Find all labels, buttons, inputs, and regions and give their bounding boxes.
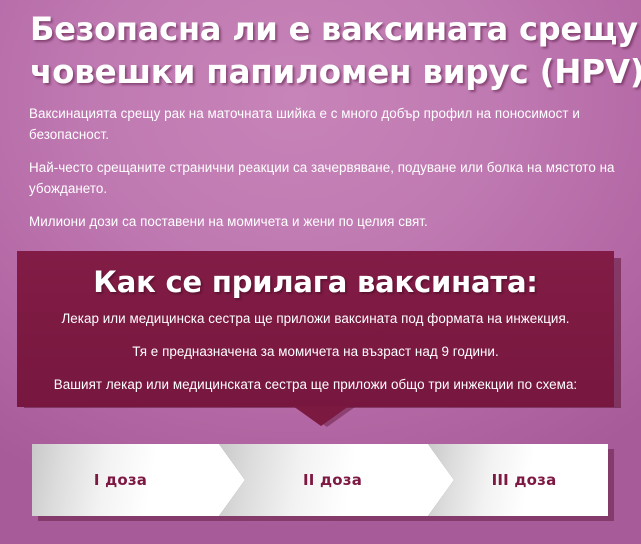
title-line-2: човешки папиломен вирус (HPV).: [30, 51, 630, 94]
panel-line-2: Тя е предназначена за момичета на възрас…: [27, 342, 604, 361]
intro-text-block: Ваксинацията срещу рак на маточната шийк…: [29, 103, 621, 232]
panel-heading: Как се прилага ваксината:: [17, 265, 614, 299]
how-applied-panel: Как се прилага ваксината: Лекар или меди…: [17, 251, 614, 407]
page-title: Безопасна ли е ваксината срещу човешки п…: [30, 8, 630, 94]
intro-paragraph-1: Ваксинацията срещу рак на маточната шийк…: [29, 103, 621, 145]
intro-paragraph-2: Най-често срещаните странични реакции са…: [29, 157, 621, 199]
panel-line-1: Лекар или медицинска сестра ще приложи в…: [27, 309, 604, 328]
step-2-label: II доза: [303, 471, 362, 489]
panel-text-block: Лекар или медицинска сестра ще приложи в…: [27, 309, 604, 394]
step-dose-3[interactable]: III доза: [428, 444, 608, 516]
panel-pointer-triangle-icon: [293, 406, 349, 426]
dose-schedule: I доза II доза III доза: [0, 444, 641, 522]
title-line-1: Безопасна ли е ваксината срещу: [30, 8, 630, 51]
step-3-label: III доза: [492, 471, 557, 489]
step-1-label: I доза: [94, 471, 147, 489]
step-dose-1[interactable]: I доза: [32, 444, 245, 516]
intro-paragraph-3: Милиони дози са поставени на момичета и …: [29, 211, 621, 232]
panel-line-3: Вашият лекар или медицинската сестра ще …: [27, 375, 604, 394]
infographic-poster: Безопасна ли е ваксината срещу човешки п…: [0, 0, 641, 544]
step-dose-2[interactable]: II доза: [219, 444, 454, 516]
